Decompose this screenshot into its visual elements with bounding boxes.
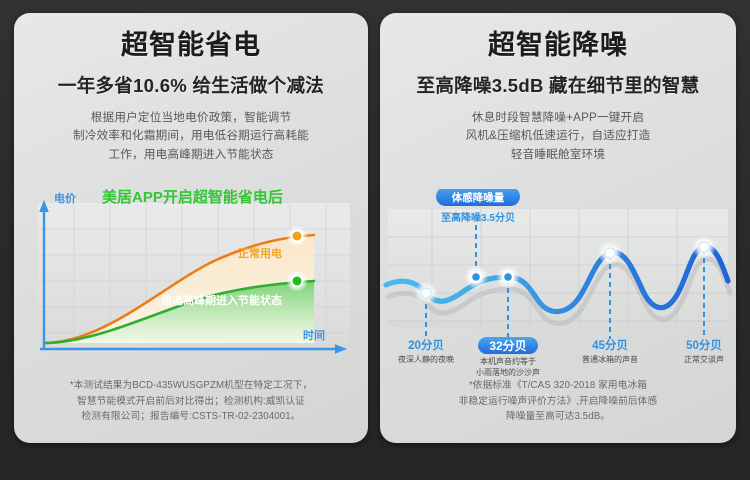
right-desc-line-3: 轻音睡眠舱室环境 <box>396 146 720 165</box>
left-panel-description: 根据用户定位当地电价政策，智能调节 制冷效率和化霜期间，用电低谷期运行高耗能 工… <box>14 109 368 165</box>
right-panel-footnote: *依据标准《T/CAS 320-2018 家用电冰箱 非稳定运行噪声评价方法》,… <box>380 378 736 425</box>
power-saving-chart-svg: 电价 时间 美居APP开启超智能省电后 正常用电 用电高峰期进入节能状态 <box>14 189 368 379</box>
badge-perceived-noise-reduction: 体感降噪量 至高降噪3.5分贝 <box>436 189 520 224</box>
left-panel-footnote: *本测试结果为BCD-435WUSGPZM机型在特定工况下， 智慧节能模式开启前… <box>14 378 368 425</box>
marker-32db-desc-line-1: 本机声音约等于 <box>480 356 536 366</box>
marker-45db-value: 45分贝 <box>592 338 628 352</box>
screenshot-stage: 超智能省电 一年多省10.6% 给生活做个减法 根据用户定位当地电价政策，智能调… <box>0 0 750 480</box>
x-axis-label: 时间 <box>303 328 325 342</box>
right-desc-line-2: 风机&压缩机低速运行，自适应打造 <box>396 127 720 146</box>
marker-50db-desc: 正常交谈声 <box>684 354 724 364</box>
right-panel-subtitle: 至高降噪3.5dB 藏在细节里的智慧 <box>380 72 736 98</box>
left-footnote-line-1: *本测试结果为BCD-435WUSGPZM机型在特定工况下， <box>36 378 346 394</box>
marker-50db-value: 50分贝 <box>686 338 722 352</box>
right-footnote-line-1: *依据标准《T/CAS 320-2018 家用电冰箱 <box>402 378 714 394</box>
left-panel-title: 超智能省电 <box>14 31 368 61</box>
marker-20db-value: 20分贝 <box>408 338 444 352</box>
right-footnote-line-3: 降噪量至高可达3.5dB。 <box>402 409 714 425</box>
node-annotation <box>471 272 481 282</box>
right-footnote-line-2: 非稳定运行噪声评价方法》,开启降噪前后体感 <box>402 394 714 410</box>
y-axis-label: 电价 <box>54 191 77 205</box>
noise-level-chart-svg: 体感降噪量 至高降噪3.5分贝 20分贝 夜深人静的夜晚 32分贝 本机声音约等… <box>380 189 736 379</box>
right-panel-title: 超智能降噪 <box>380 31 736 61</box>
saving-usage-endpoint-dot <box>292 276 302 286</box>
marker-45db-desc: 普通冰箱的声音 <box>582 354 638 364</box>
left-footnote-line-2: 智慧节能模式开启前后对比得出；检测机构:威凯认证 <box>36 394 346 410</box>
marker-label-20db: 20分贝 夜深人静的夜晚 <box>398 338 454 364</box>
marker-label-45db: 45分贝 普通冰箱的声音 <box>582 338 638 364</box>
legend-saving-usage: 用电高峰期进入节能状态 <box>161 293 282 307</box>
node-32db <box>503 272 513 282</box>
left-desc-line-2: 制冷效率和化霜期间，用电低谷期运行高耗能 <box>30 127 352 146</box>
marker-label-32db: 32分贝 本机声音约等于 小雨落地的沙沙声 <box>476 337 540 377</box>
badge-pill-label: 体感降噪量 <box>452 191 505 204</box>
marker-20db-desc: 夜深人静的夜晚 <box>398 354 454 364</box>
left-desc-line-3: 工作，用电高峰期进入节能状态 <box>30 146 352 165</box>
chart-headline: 美居APP开启超智能省电后 <box>102 189 283 206</box>
node-20db <box>421 288 431 298</box>
badge-pill-sublabel: 至高降噪3.5分贝 <box>441 211 515 224</box>
noise-level-chart: 体感降噪量 至高降噪3.5分贝 20分贝 夜深人静的夜晚 32分贝 本机声音约等… <box>380 189 736 379</box>
right-desc-line-1: 休息时段智慧降噪+APP一键开启 <box>396 109 720 128</box>
right-panel-description: 休息时段智慧降噪+APP一键开启 风机&压缩机低速运行，自适应打造 轻音睡眠舱室… <box>380 109 736 165</box>
legend-normal-usage: 正常用电 <box>238 246 282 260</box>
left-footnote-line-3: 检测有限公司；报告编号:CSTS-TR-02-2304001。 <box>36 409 346 425</box>
marker-label-50db: 50分贝 正常交谈声 <box>684 338 724 364</box>
normal-usage-endpoint-dot <box>292 231 302 241</box>
marker-32db-desc-line-2: 小雨落地的沙沙声 <box>476 367 540 377</box>
x-axis-arrow-icon <box>335 344 347 354</box>
panel-smart-noise-reduction: 超智能降噪 至高降噪3.5dB 藏在细节里的智慧 休息时段智慧降噪+APP一键开… <box>380 13 736 443</box>
node-45db <box>605 248 615 258</box>
marker-32db-value: 32分贝 <box>489 338 526 353</box>
node-50db <box>699 242 709 252</box>
power-saving-chart: 电价 时间 美居APP开启超智能省电后 正常用电 用电高峰期进入节能状态 <box>14 189 368 379</box>
left-desc-line-1: 根据用户定位当地电价政策，智能调节 <box>30 109 352 128</box>
left-panel-subtitle: 一年多省10.6% 给生活做个减法 <box>14 72 368 98</box>
panel-smart-power-saving: 超智能省电 一年多省10.6% 给生活做个减法 根据用户定位当地电价政策，智能调… <box>14 13 368 443</box>
